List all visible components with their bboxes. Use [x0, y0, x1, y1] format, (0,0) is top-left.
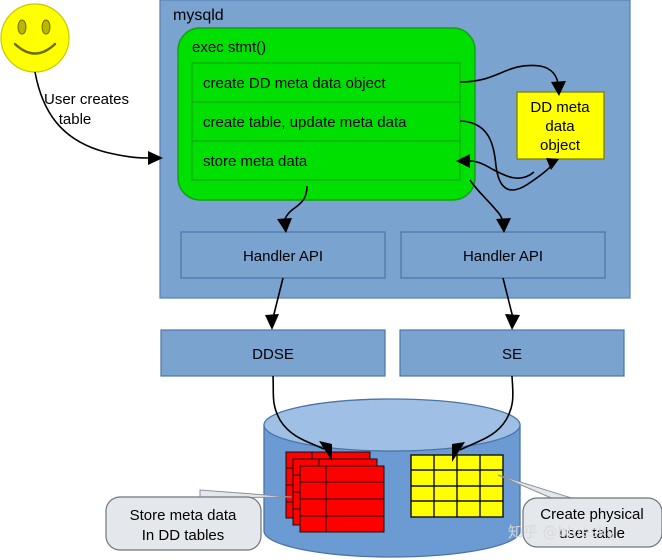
dd-object-line-3: object	[540, 137, 581, 154]
callout-left-line-2: In DD tables	[142, 527, 225, 544]
dd-meta-data-object-box[interactable]: DD meta data object	[517, 92, 604, 159]
handler-api-right-label: Handler API	[463, 248, 543, 265]
handler-api-box-left[interactable]: Handler API	[181, 232, 385, 278]
arrowhead-handler-left-to-ddse	[265, 314, 279, 330]
step-create-table-update-meta-data[interactable]: create table, update meta data	[192, 102, 460, 141]
cylinder-top	[264, 399, 520, 451]
engine-box-se[interactable]: SE	[400, 330, 624, 376]
exec-stmt-block: exec stmt() create DD meta data object c…	[178, 28, 475, 200]
smiley-eye-right	[42, 20, 50, 34]
callout-right-line-1: Create physical	[540, 506, 643, 523]
smiley-eye-left	[18, 20, 26, 34]
architecture-diagram: mysqld exec stmt() create DD meta data o…	[0, 0, 662, 560]
yellow-grid-table-icon	[411, 455, 503, 517]
smiley-head	[1, 4, 69, 72]
arrow-user-to-mysqld	[35, 72, 163, 165]
step-store-meta-data[interactable]: store meta data	[192, 141, 460, 180]
user-caption-line-2: table	[59, 111, 92, 128]
diagram-canvas: mysqld exec stmt() create DD meta data o…	[0, 0, 662, 560]
step-3-label: store meta data	[203, 153, 308, 170]
engine-box-ddse[interactable]: DDSE	[161, 330, 385, 376]
handler-api-left-label: Handler API	[243, 248, 323, 265]
arrowhead-handler-right-to-se	[505, 314, 520, 330]
se-label: SE	[502, 346, 522, 363]
step-create-dd-meta-data-object[interactable]: create DD meta data object	[192, 63, 460, 102]
smiley-face-icon	[1, 4, 69, 72]
red-table-sheet-front	[300, 466, 384, 532]
step-2-label: create table, update meta data	[203, 114, 407, 131]
exec-stmt-label: exec stmt()	[192, 39, 266, 56]
mysqld-panel-title: mysqld	[173, 7, 224, 24]
dd-object-line-2: data	[545, 118, 575, 135]
handler-api-box-right[interactable]: Handler API	[401, 232, 605, 278]
red-stacked-tables-icon	[286, 452, 384, 532]
ddse-label: DDSE	[252, 346, 294, 363]
callout-left-line-1: Store meta data	[130, 507, 237, 524]
step-1-label: create DD meta data object	[203, 75, 386, 92]
user-caption-line-1: User creates	[44, 91, 129, 108]
dd-object-line-1: DD meta	[530, 99, 590, 116]
watermark-text: 知乎 @bluesky	[508, 523, 615, 541]
